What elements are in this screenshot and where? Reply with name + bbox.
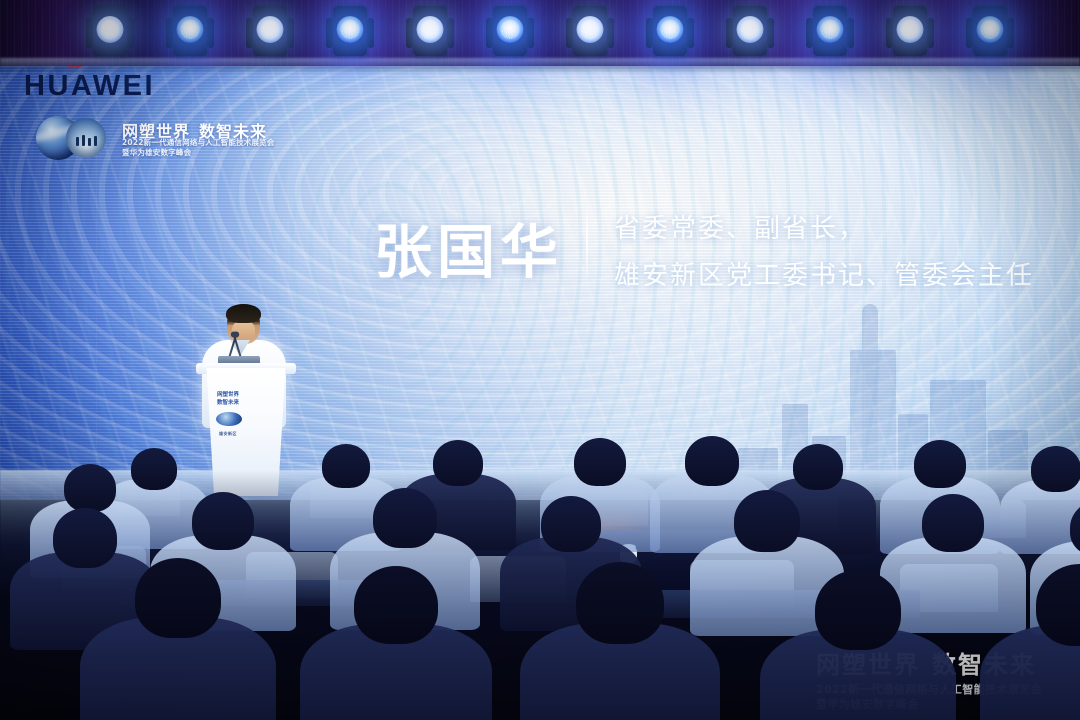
stage-light-icon [633, 0, 707, 66]
event-subtitle-small-line-2: 暨华为雄安数字峰会 [122, 148, 275, 158]
podium-slogan: 网塑世界 数智未来 [186, 392, 270, 407]
speaker-role: 省委常委、副省长， 雄安新区党工委书记、管委会主任 [614, 206, 1034, 300]
audience [0, 430, 1080, 720]
podium-globe-icon [216, 412, 242, 426]
speaker-name: 张国华 [374, 205, 563, 289]
event-globe-icon [36, 116, 122, 160]
audience-member [300, 566, 492, 720]
stage-light-icon [953, 0, 1027, 66]
stage-light-icon [233, 0, 307, 66]
event-subtitle-small: 2022新一代通信网络与人工智能技术展览会 暨华为雄安数字峰会 [122, 138, 275, 158]
speaker-role-line-2: 雄安新区党工委书记、管委会主任 [614, 253, 1034, 300]
stage-light-icon [393, 0, 467, 66]
stage-light-icon [73, 0, 147, 66]
speaker-role-line-1: 省委常委、副省长， [614, 206, 1034, 253]
stage-light-icon [793, 0, 867, 66]
huawei-wordmark: HUAWEI [24, 70, 155, 103]
stage-light-icon [873, 0, 947, 66]
podium-slogan-line-2: 数智未来 [186, 400, 270, 408]
podium-slogan-line-1: 网塑世界 [186, 392, 270, 400]
event-subtitle-small-line-1: 2022新一代通信网络与人工智能技术展览会 [122, 138, 275, 148]
audience-member [520, 562, 720, 720]
stage-light-icon [153, 0, 227, 66]
stage-photo: 张国华 省委常委、副省长， 雄安新区党工委书记、管委会主任 HUAWEI 网塑世… [0, 0, 1080, 720]
stage-light-icon [553, 0, 627, 66]
stage-light-icon [313, 0, 387, 66]
stage-light-icon [473, 0, 547, 66]
stage-light-icon [713, 0, 787, 66]
audience-member [760, 570, 956, 720]
speaker-hair [226, 304, 261, 323]
name-role-divider [586, 206, 588, 278]
audience-member [980, 564, 1080, 720]
audience-member [80, 558, 276, 720]
